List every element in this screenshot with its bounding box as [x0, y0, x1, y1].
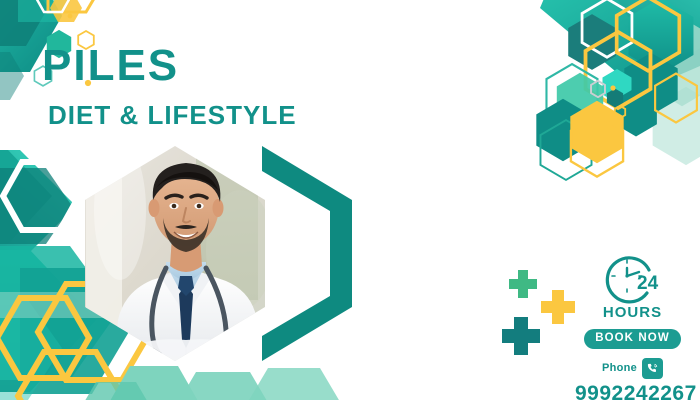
- page-title: PILES: [42, 44, 297, 88]
- bottom-mint-hexagons: [76, 366, 346, 400]
- page-subtitle: DIET & LIFESTYLE: [48, 102, 297, 128]
- hours-label: HOURS: [575, 305, 690, 320]
- phone-number[interactable]: 9992242267: [575, 383, 690, 400]
- phone-label: Phone: [602, 363, 637, 374]
- photo-chevron-accent: [262, 146, 352, 361]
- piles-diet-lifestyle-banner: PILES DIET & LIFESTYLE: [0, 0, 700, 400]
- phone-ringing-icon[interactable]: [642, 358, 663, 379]
- hours-number: 24: [637, 273, 659, 294]
- book-now-button[interactable]: BOOK NOW: [584, 329, 681, 349]
- phone-row: Phone: [575, 358, 690, 379]
- contact-info-block: 24 HOURS BOOK NOW Phone 9992242267: [575, 252, 690, 400]
- bottom-right-corner-mark: [512, 330, 528, 346]
- headline-group: PILES DIET & LIFESTYLE: [42, 44, 297, 128]
- clock-24-icon: 24: [601, 252, 665, 304]
